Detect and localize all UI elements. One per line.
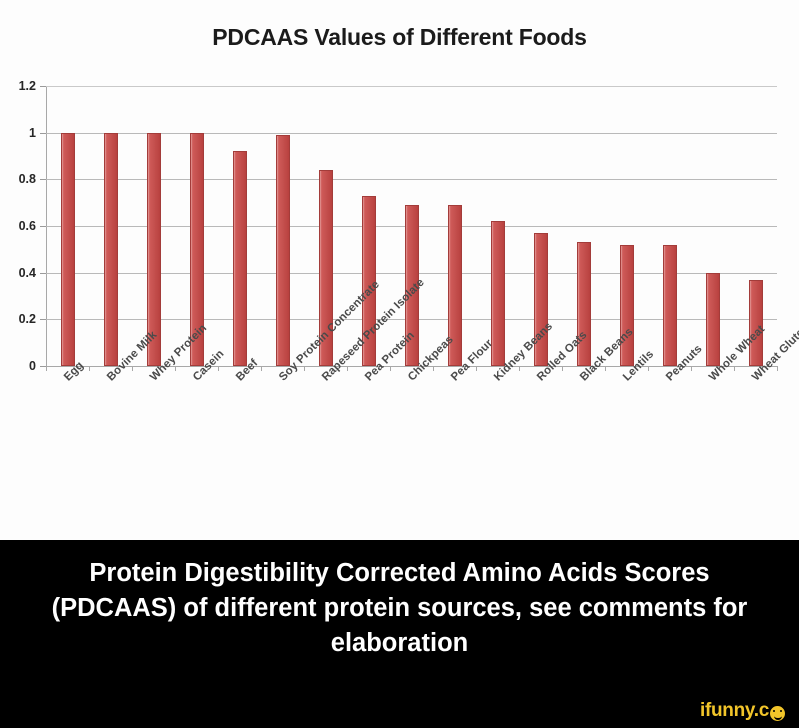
gridline [46, 86, 777, 87]
y-axis-tick-mark [40, 273, 46, 274]
x-axis-tick-mark [261, 366, 262, 371]
x-axis-tick-mark [46, 366, 47, 371]
x-axis-tick-mark [519, 366, 520, 371]
x-axis-tick-mark [89, 366, 90, 371]
x-axis-tick-mark [175, 366, 176, 371]
y-axis-tick-label: 0.6 [2, 219, 36, 233]
bar [61, 133, 75, 366]
x-axis-tick-mark [390, 366, 391, 371]
x-axis-tick-mark [648, 366, 649, 371]
x-axis-tick-mark [605, 366, 606, 371]
watermark-label: ifunny.c [700, 700, 769, 722]
y-axis-tick-label: 0 [2, 359, 36, 373]
bar [233, 151, 247, 366]
bar [663, 245, 677, 366]
caption-band: Protein Digestibility Corrected Amino Ac… [0, 540, 799, 728]
x-axis-tick-mark [777, 366, 778, 371]
y-axis-tick-mark [40, 86, 46, 87]
bar [276, 135, 290, 366]
screenshot-root: PDCAAS Values of Different Foods 00.20.4… [0, 0, 799, 728]
y-axis-tick-mark [40, 133, 46, 134]
x-axis-tick-mark [132, 366, 133, 371]
y-axis-tick-label: 0.4 [2, 266, 36, 280]
y-axis-tick-mark [40, 179, 46, 180]
bar [104, 133, 118, 366]
chart-panel: PDCAAS Values of Different Foods 00.20.4… [0, 0, 799, 540]
x-axis-tick-mark [218, 366, 219, 371]
x-axis-tick-mark [691, 366, 692, 371]
bar [749, 280, 763, 366]
x-axis-tick-mark [304, 366, 305, 371]
smiley-icon [770, 706, 785, 721]
y-axis-tick-label: 0.2 [2, 312, 36, 326]
x-axis-tick-mark [347, 366, 348, 371]
x-axis-tick-mark [476, 366, 477, 371]
y-axis-tick-label: 1.2 [2, 79, 36, 93]
ifunny-watermark: ifunny.c [700, 700, 785, 722]
plot-area [46, 86, 777, 366]
x-axis-tick-mark [734, 366, 735, 371]
x-axis-tick-mark [562, 366, 563, 371]
x-axis-tick-mark [433, 366, 434, 371]
y-axis-tick-label: 1 [2, 126, 36, 140]
caption-text: Protein Digestibility Corrected Amino Ac… [30, 556, 769, 661]
y-axis-tick-label: 0.8 [2, 172, 36, 186]
chart-title: PDCAAS Values of Different Foods [0, 24, 799, 51]
bar [706, 273, 720, 366]
y-axis-tick-mark [40, 226, 46, 227]
y-axis-tick-mark [40, 319, 46, 320]
